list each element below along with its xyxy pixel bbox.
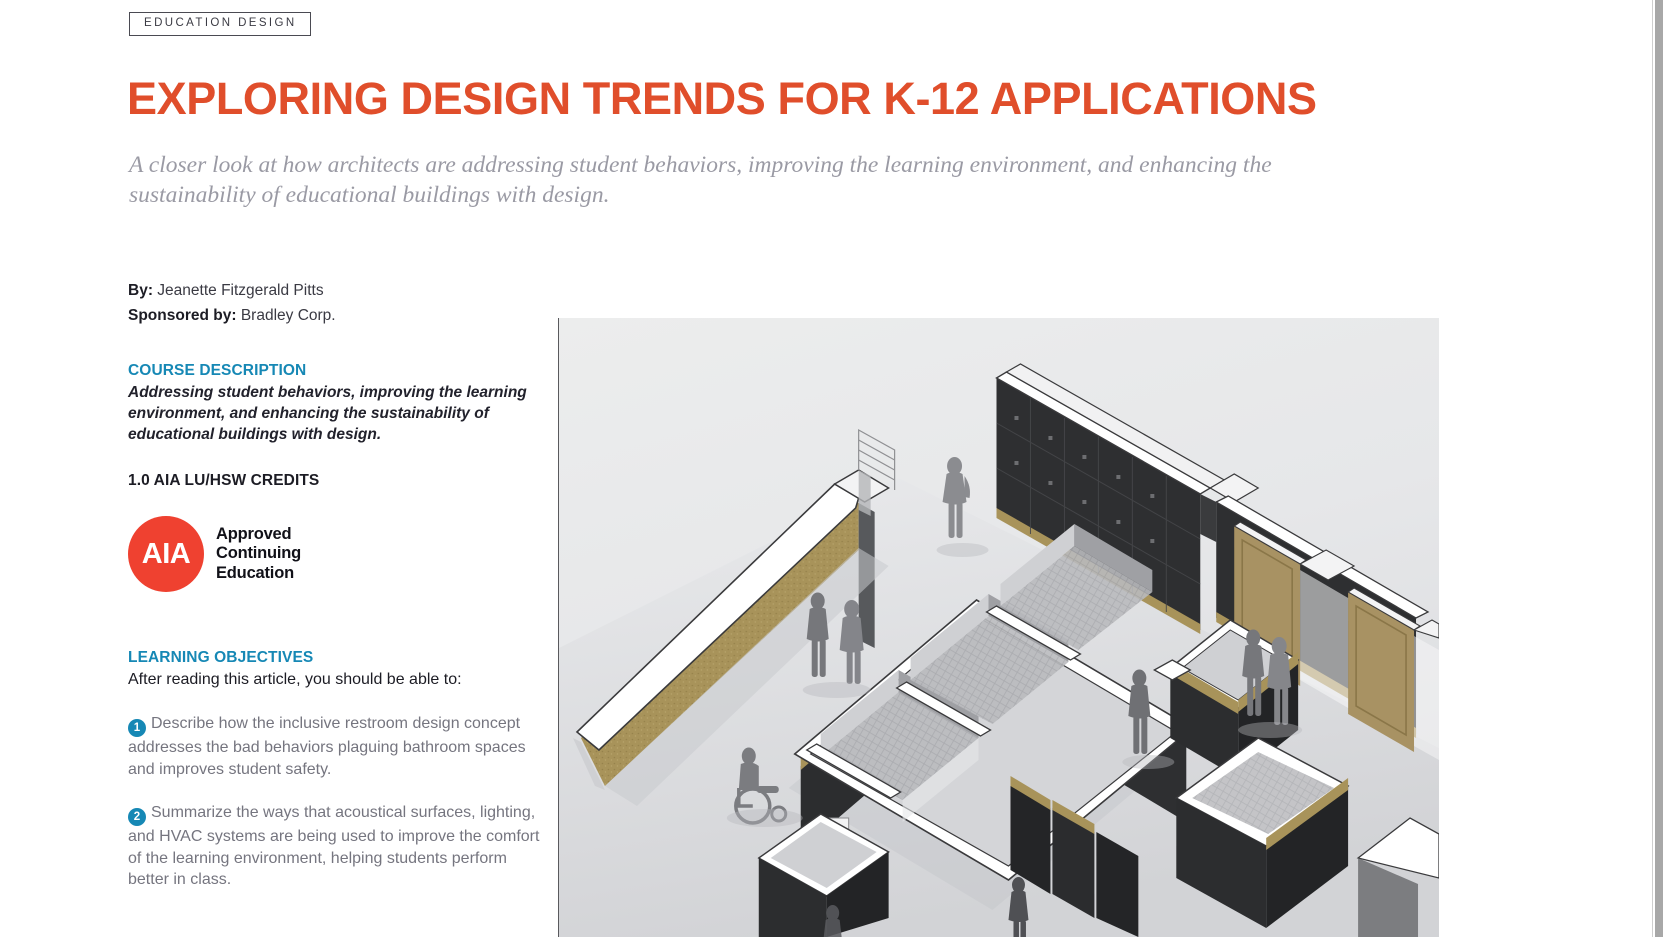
objective-text: Describe how the inclusive restroom desi…	[128, 715, 526, 778]
objective-number-badge: 1	[128, 719, 146, 737]
aia-logo: AIA Approved Continuing Education	[128, 516, 548, 592]
byline-sponsor-label: Sponsored by:	[128, 307, 237, 324]
learning-objectives-block: LEARNING OBJECTIVES After reading this a…	[128, 649, 548, 891]
article-content: EDUCATION DESIGN EXPLORING DESIGN TRENDS…	[0, 0, 1654, 937]
learning-objective-item: 1Describe how the inclusive restroom des…	[128, 713, 540, 780]
aia-logo-line1: Approved	[216, 525, 301, 545]
scrollbar-thumb[interactable]	[1655, 0, 1663, 937]
objective-text: Summarize the ways that acoustical surfa…	[128, 804, 539, 888]
byline-author-label: By:	[128, 282, 153, 299]
course-info-column: COURSE DESCRIPTION Addressing student be…	[128, 362, 548, 891]
page-title: EXPLORING DESIGN TRENDS FOR K-12 APPLICA…	[127, 74, 1317, 124]
aia-mark-text: AIA	[142, 540, 190, 569]
byline-author-name: Jeanette Fitzgerald Pitts	[157, 282, 323, 299]
learning-objectives-intro: After reading this article, you should b…	[128, 669, 548, 691]
credits-label: 1.0 AIA LU/HSW CREDITS	[128, 472, 548, 490]
byline-author-row: By: Jeanette Fitzgerald Pitts	[128, 278, 336, 303]
course-description-text: Addressing student behaviors, improving …	[128, 382, 528, 445]
course-description-heading: COURSE DESCRIPTION	[128, 362, 548, 380]
article-page: EDUCATION DESIGN EXPLORING DESIGN TRENDS…	[0, 0, 1666, 937]
byline: By: Jeanette Fitzgerald Pitts Sponsored …	[128, 278, 336, 328]
byline-sponsor-row: Sponsored by: Bradley Corp.	[128, 303, 336, 328]
learning-objective-item: 2Summarize the ways that acoustical surf…	[128, 802, 540, 891]
learning-objectives-heading: LEARNING OBJECTIVES	[128, 649, 548, 667]
category-tag[interactable]: EDUCATION DESIGN	[129, 12, 311, 36]
objective-number-badge: 2	[128, 808, 146, 826]
byline-sponsor-name: Bradley Corp.	[241, 307, 336, 324]
aia-logo-line3: Education	[216, 564, 301, 584]
restroom-rendering-illustration	[559, 318, 1439, 937]
vertical-scrollbar[interactable]	[1652, 0, 1666, 937]
article-subtitle: A closer look at how architects are addr…	[129, 150, 1309, 210]
aia-logo-line2: Continuing	[216, 544, 301, 564]
aia-logo-text: Approved Continuing Education	[216, 525, 301, 584]
aia-circle-mark: AIA	[128, 516, 204, 592]
hero-image	[558, 318, 1439, 937]
